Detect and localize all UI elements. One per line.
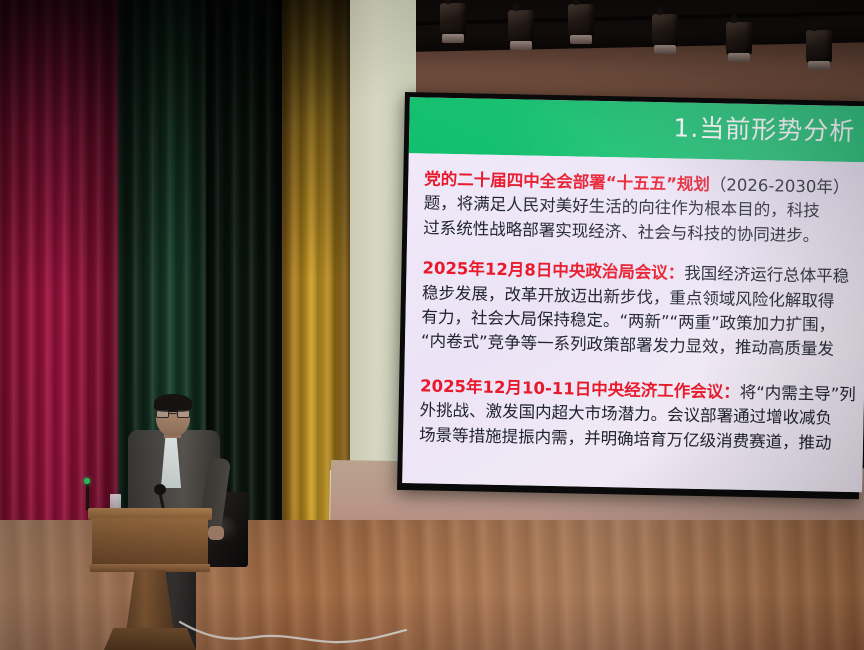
glasses-lens-left xyxy=(156,410,169,418)
microphone-icon xyxy=(154,484,166,495)
slide-body: 党的二十届四中全会部署“十五五”规划（2026-2030年） 题，将满足人民对美… xyxy=(402,153,864,492)
podium-stem xyxy=(126,570,174,632)
glasses-icon xyxy=(156,410,190,418)
paragraph-lead-suffix: 我国经济运行总体平稳 xyxy=(684,264,849,286)
paragraph-lead-suffix: 将“内需主导”列 xyxy=(740,383,856,404)
slide-paragraph: 2025年12月8日中央政治局会议：我国经济运行总体平稳 稳步发展，改革开放迈出… xyxy=(421,257,864,364)
projection-screen[interactable]: 1.当前形势分析 党的二十届四中全会部署“十五五”规划（2026-2030年） … xyxy=(397,92,864,499)
slide-paragraph: 2025年12月10-11日中央经济工作会议：将“内需主导”列 外挑战、激发国内… xyxy=(419,374,864,456)
paragraph-lead: 党的二十届四中全会部署“十五五”规划 xyxy=(424,169,710,194)
paragraph-lead: 2025年12月8日中央政治局会议： xyxy=(422,259,684,283)
glasses-lens-right xyxy=(177,410,190,418)
stage-light-icon xyxy=(726,22,752,56)
podium xyxy=(88,508,212,650)
microphone-led-icon xyxy=(84,478,90,484)
slide-title: 1.当前形势分析 xyxy=(673,108,856,148)
gooseneck-microphone xyxy=(86,480,89,510)
podium-base xyxy=(104,628,196,650)
stage-light-icon xyxy=(440,3,466,37)
podium-face xyxy=(92,518,208,566)
slide-paragraph: 党的二十届四中全会部署“十五五”规划（2026-2030年） 题，将满足人民对美… xyxy=(423,167,864,249)
paragraph-lead: 2025年12月10-11日中央经济工作会议： xyxy=(420,376,740,401)
stage-light-icon xyxy=(568,4,594,38)
conference-hall-photo: 1.当前形势分析 党的二十届四中全会部署“十五五”规划（2026-2030年） … xyxy=(0,0,864,650)
slide-header: 1.当前形势分析 xyxy=(409,97,864,162)
stage-light-icon xyxy=(652,14,678,48)
stage-light-icon xyxy=(508,10,534,44)
stage-light-icon xyxy=(806,30,832,64)
paragraph-lead-suffix: （2026-2030年） xyxy=(710,175,850,197)
slide-surface: 1.当前形势分析 党的二十届四中全会部署“十五五”规划（2026-2030年） … xyxy=(402,97,864,492)
glasses-bridge xyxy=(169,413,177,414)
